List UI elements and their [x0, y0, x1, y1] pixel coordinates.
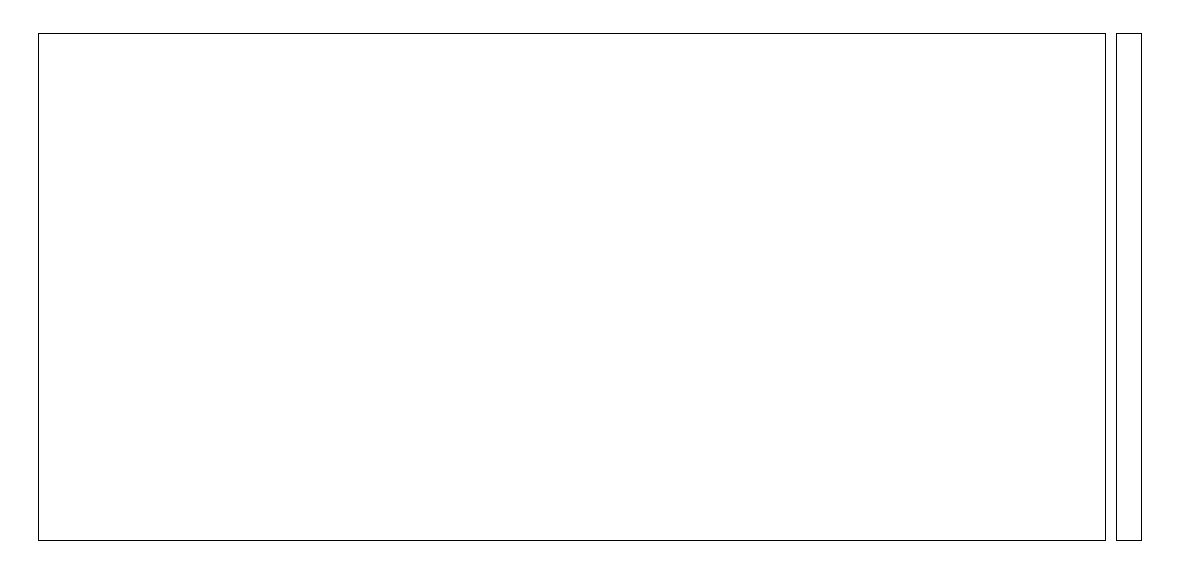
- channel-rate-heatmap: [38, 33, 1106, 541]
- heatmap-grid: [39, 34, 1105, 540]
- colorbar: [1116, 33, 1142, 541]
